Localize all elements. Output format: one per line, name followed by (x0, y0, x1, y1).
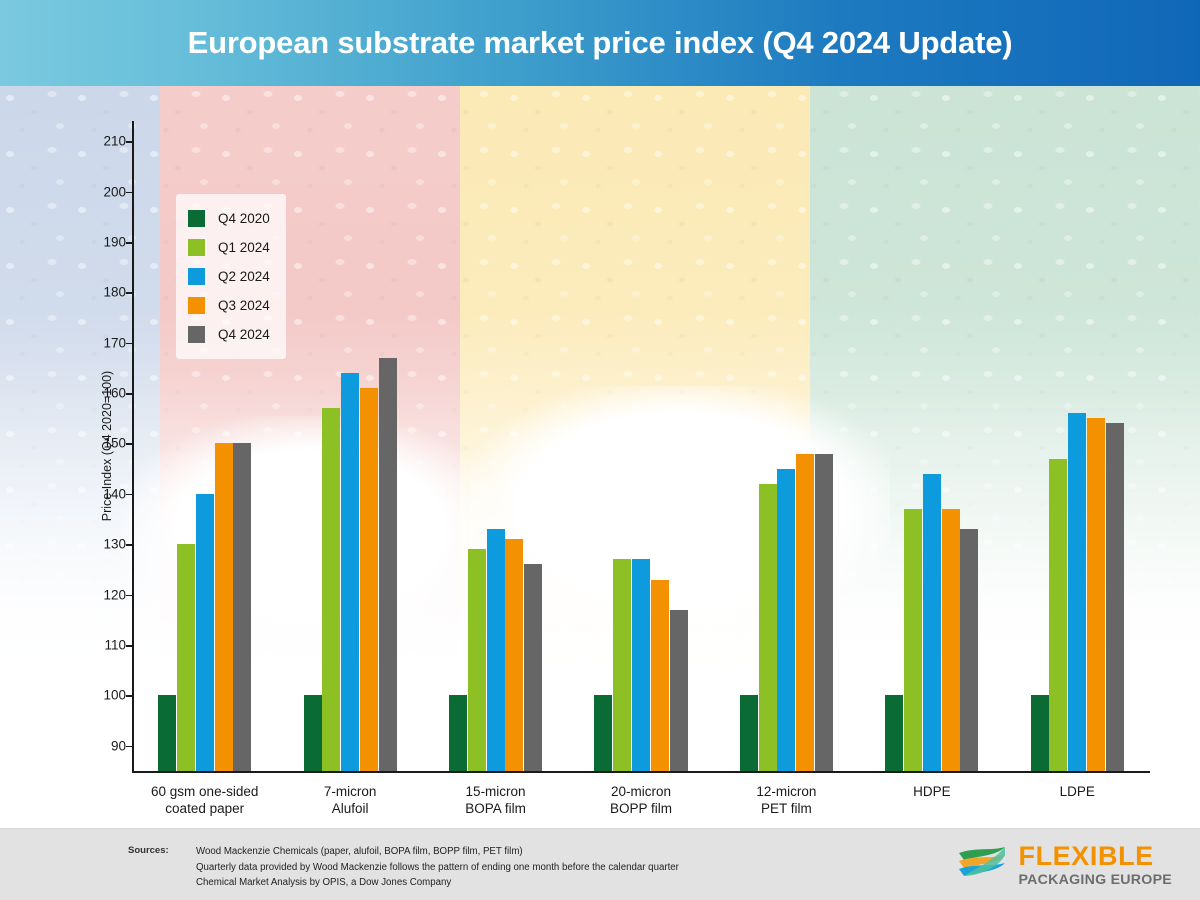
y-axis-tick-label: 140 (66, 486, 126, 501)
y-axis-tick-label: 130 (66, 537, 126, 552)
bar-q3-2024[interactable] (360, 388, 378, 771)
bar-q1-2024[interactable] (322, 408, 340, 771)
bar-group (1031, 121, 1124, 771)
y-axis-tick-label: 200 (66, 184, 126, 199)
sources-label: Sources: (128, 845, 169, 856)
bar-q2-2024[interactable] (632, 559, 650, 771)
y-axis-tick-label: 160 (66, 386, 126, 401)
logo-secondary-text: PACKAGING EUROPE (1018, 873, 1172, 887)
legend-item-q4-2024[interactable]: Q4 2024 (188, 320, 270, 349)
legend-item-label: Q2 2024 (218, 269, 270, 284)
bar-q4-2020[interactable] (1031, 695, 1049, 771)
bar-q4-2024[interactable] (379, 358, 397, 771)
chart-legend: Q4 2020Q1 2024Q2 2024Q3 2024Q4 2024 (176, 194, 286, 359)
bar-group (885, 121, 978, 771)
legend-swatch-icon (188, 297, 205, 314)
y-axis-tick-label: 190 (66, 234, 126, 249)
y-axis-tick-label: 110 (66, 638, 126, 653)
page-title: European substrate market price index (Q… (188, 25, 1013, 61)
bar-q3-2024[interactable] (942, 509, 960, 771)
bar-q1-2024[interactable] (468, 549, 486, 771)
bar-q1-2024[interactable] (613, 559, 631, 771)
legend-swatch-icon (188, 326, 205, 343)
bar-q4-2024[interactable] (960, 529, 978, 771)
bar-q4-2020[interactable] (304, 695, 322, 771)
legend-swatch-icon (188, 268, 205, 285)
bar-q4-2020[interactable] (449, 695, 467, 771)
bar-q3-2024[interactable] (215, 443, 233, 771)
bar-q4-2024[interactable] (233, 443, 251, 771)
sources-line: Wood Mackenzie Chemicals (paper, alufoil… (196, 844, 679, 860)
bar-q3-2024[interactable] (1087, 418, 1105, 771)
bar-q4-2024[interactable] (1106, 423, 1124, 771)
sources-line: Chemical Market Analysis by OPIS, a Dow … (196, 875, 679, 891)
bar-group (594, 121, 687, 771)
y-axis-tick-label: 180 (66, 285, 126, 300)
logo-primary-text: FLEXIBLE (1018, 843, 1172, 870)
x-axis-line (132, 771, 1150, 773)
bar-q4-2020[interactable] (594, 695, 612, 771)
legend-swatch-icon (188, 239, 205, 256)
legend-item-q3-2024[interactable]: Q3 2024 (188, 291, 270, 320)
legend-item-label: Q3 2024 (218, 298, 270, 313)
y-axis-tick-label: 170 (66, 335, 126, 350)
bar-group (740, 121, 833, 771)
bar-q3-2024[interactable] (505, 539, 523, 771)
bar-group (304, 121, 397, 771)
bar-q4-2020[interactable] (740, 695, 758, 771)
legend-swatch-icon (188, 210, 205, 227)
bar-q4-2024[interactable] (670, 610, 688, 771)
legend-item-label: Q4 2020 (218, 211, 270, 226)
bar-q4-2024[interactable] (815, 454, 833, 771)
x-axis-label: LDPE (992, 783, 1162, 800)
slide-footer: Sources: Wood Mackenzie Chemicals (paper… (0, 828, 1200, 900)
bar-q1-2024[interactable] (177, 544, 195, 771)
bar-q1-2024[interactable] (904, 509, 922, 771)
y-axis-tick-label: 120 (66, 587, 126, 602)
bar-q1-2024[interactable] (1049, 459, 1067, 771)
bar-q4-2020[interactable] (885, 695, 903, 771)
y-axis-tick-label: 90 (66, 738, 126, 753)
y-axis-tick-label: 150 (66, 436, 126, 451)
bar-q4-2020[interactable] (158, 695, 176, 771)
flexible-packaging-europe-logo: FLEXIBLE PACKAGING EUROPE (956, 843, 1172, 887)
x-axis-label-line: PET film (701, 800, 871, 817)
legend-item-label: Q1 2024 (218, 240, 270, 255)
legend-item-q4-2020[interactable]: Q4 2020 (188, 204, 270, 233)
bar-q3-2024[interactable] (796, 454, 814, 771)
sources-line: Quarterly data provided by Wood Mackenzi… (196, 860, 679, 876)
bar-q2-2024[interactable] (777, 469, 795, 771)
bar-q3-2024[interactable] (651, 580, 669, 771)
x-axis-label-line: LDPE (992, 783, 1162, 800)
sources-text: Wood Mackenzie Chemicals (paper, alufoil… (196, 844, 679, 891)
slide-root: European substrate market price index (Q… (0, 0, 1200, 900)
bar-q2-2024[interactable] (1068, 413, 1086, 771)
y-axis-tick-label: 100 (66, 688, 126, 703)
bar-q2-2024[interactable] (196, 494, 214, 771)
legend-item-q2-2024[interactable]: Q2 2024 (188, 262, 270, 291)
bar-q4-2024[interactable] (524, 564, 542, 771)
slide-header: European substrate market price index (Q… (0, 0, 1200, 86)
bar-group (449, 121, 542, 771)
swoosh-icon (956, 844, 1008, 886)
legend-item-q1-2024[interactable]: Q1 2024 (188, 233, 270, 262)
chart-canvas: Price Index (Q4 2020=100) 90100110120130… (0, 86, 1200, 828)
bar-q2-2024[interactable] (487, 529, 505, 771)
legend-item-label: Q4 2024 (218, 327, 270, 342)
bar-q2-2024[interactable] (923, 474, 941, 771)
logo-wordmark: FLEXIBLE PACKAGING EUROPE (1018, 843, 1172, 887)
y-axis-tick-label: 210 (66, 134, 126, 149)
bar-q1-2024[interactable] (759, 484, 777, 771)
bar-q2-2024[interactable] (341, 373, 359, 771)
